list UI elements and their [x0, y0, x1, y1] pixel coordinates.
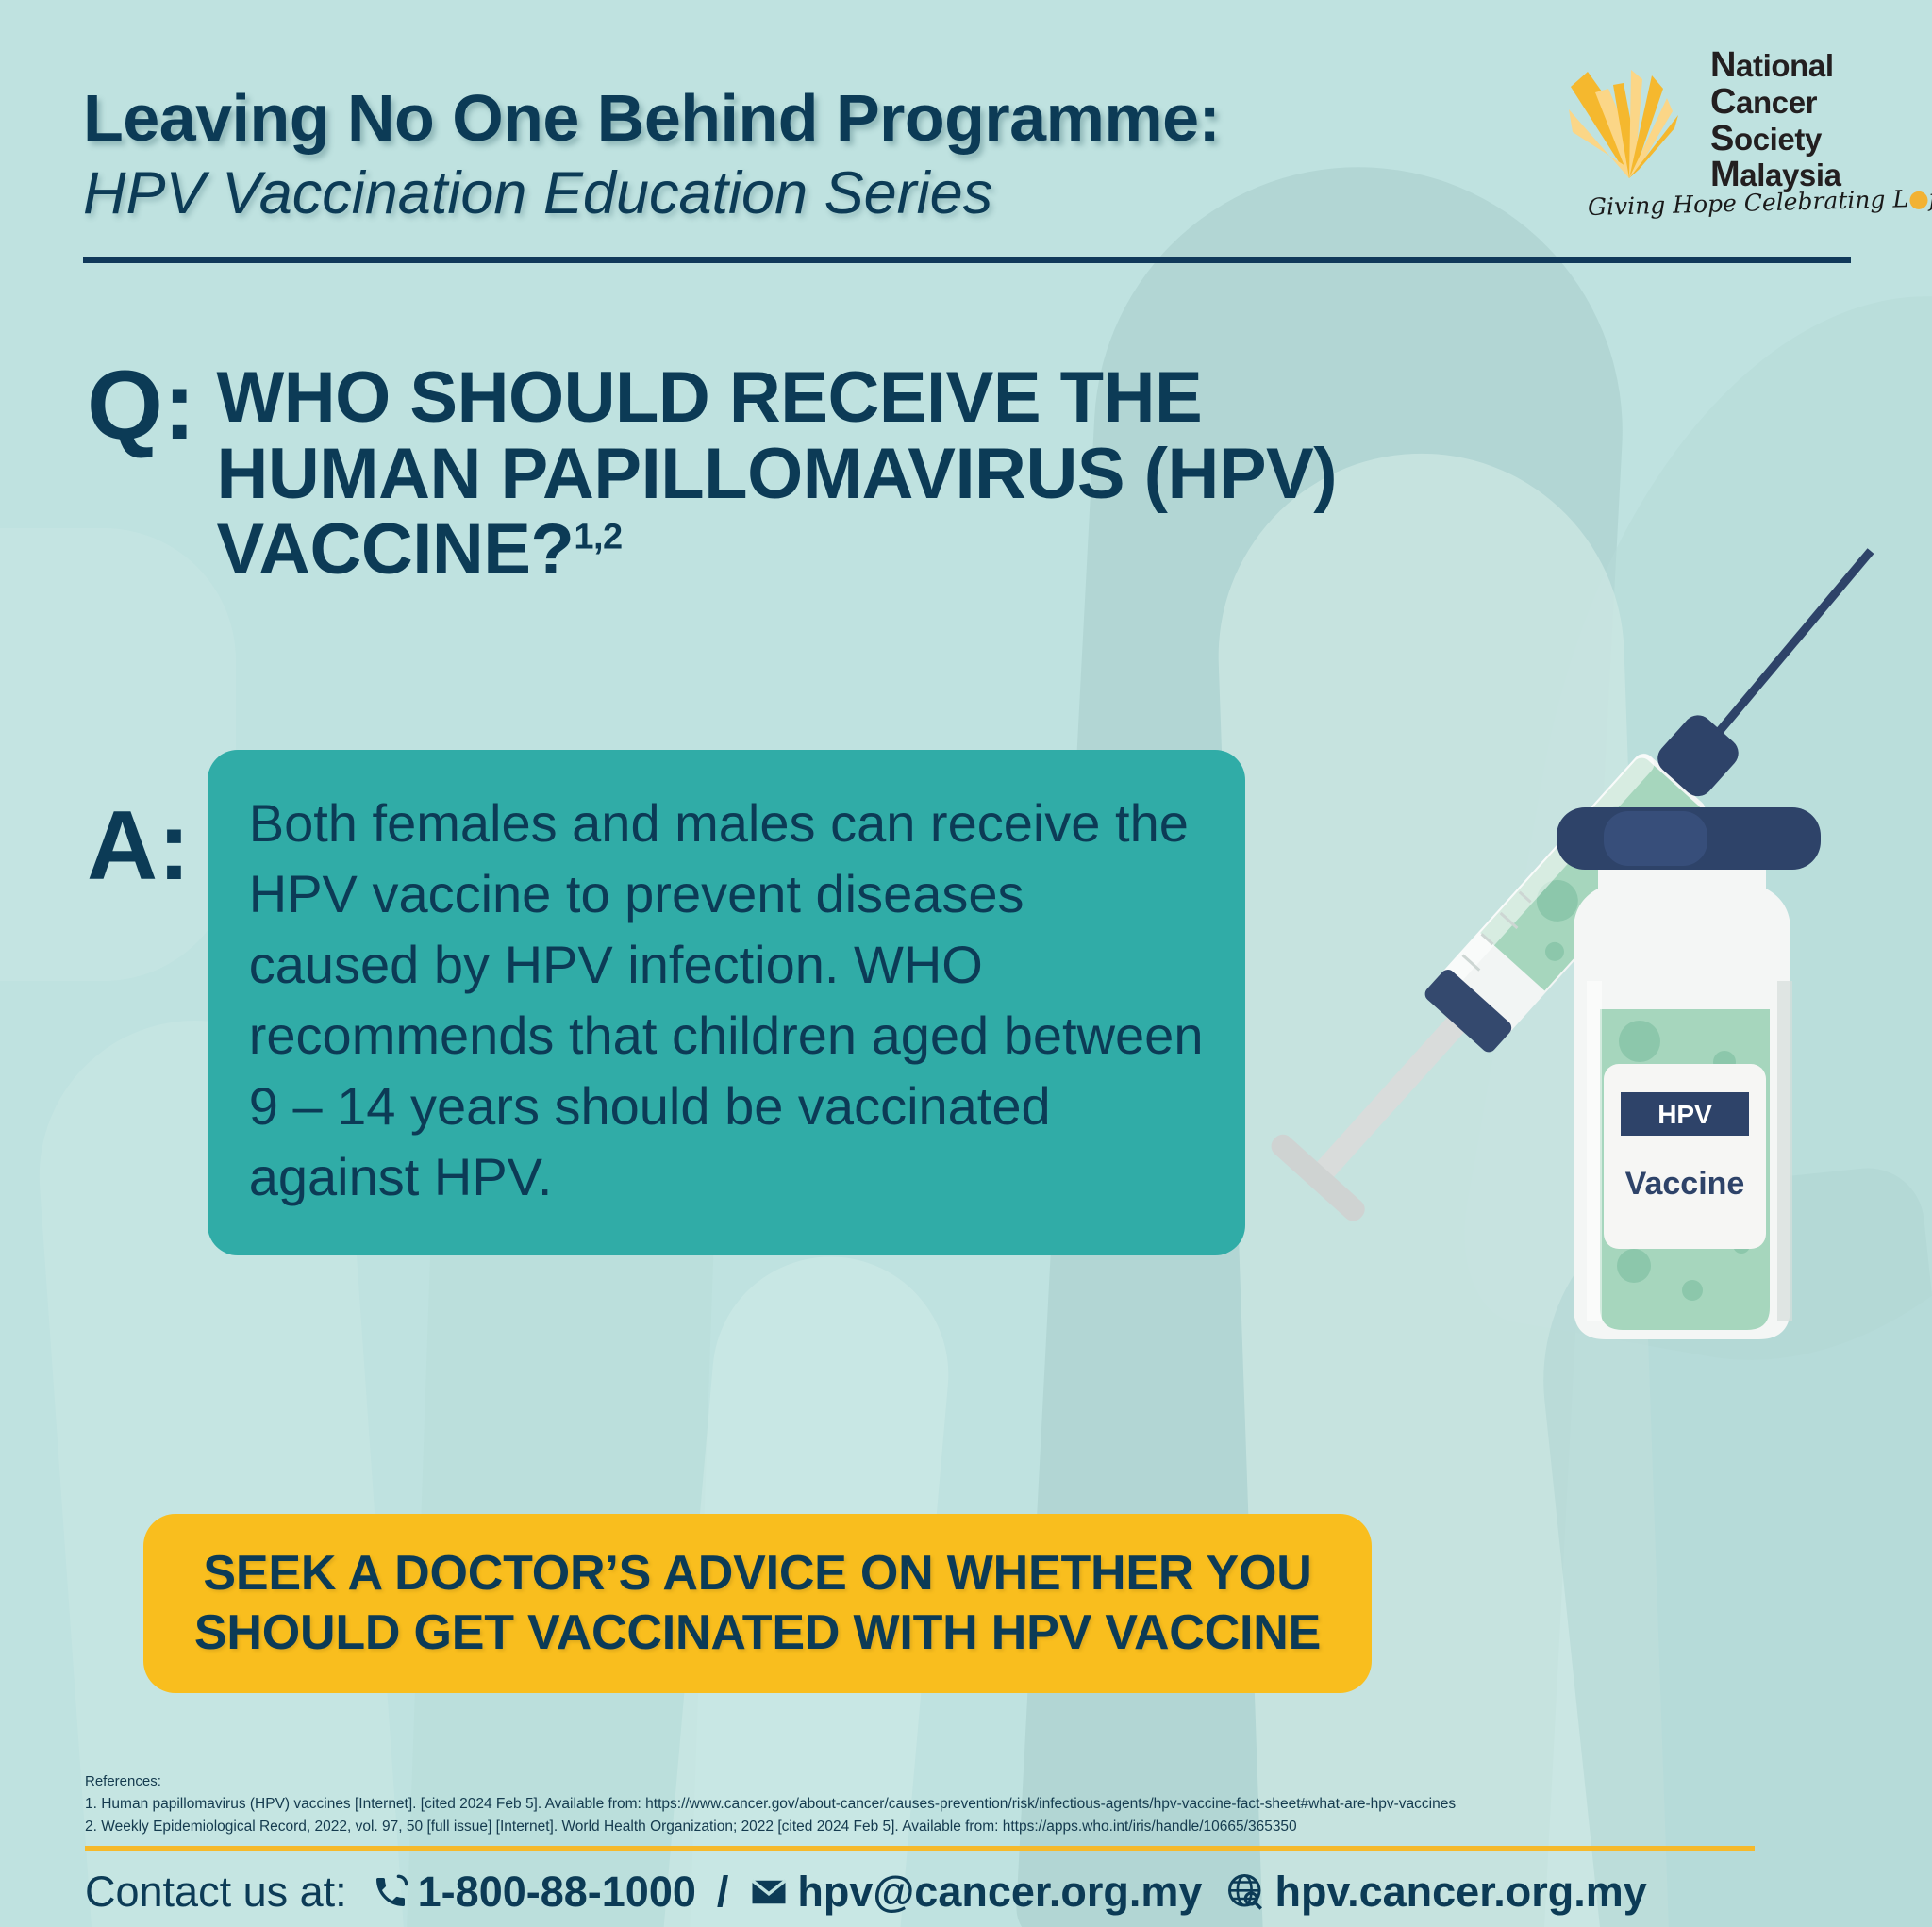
contact-website-text: hpv.cancer.org.my [1274, 1868, 1646, 1917]
logo-rest-national: ational [1736, 48, 1834, 83]
logo-line-society: Society [1710, 121, 1841, 158]
contact-separator: / [717, 1868, 729, 1917]
title-block: Leaving No One Behind Programme: HPV Vac… [83, 85, 1404, 224]
references-block: References: 1. Human papillomavirus (HPV… [85, 1771, 1783, 1838]
phone-icon [372, 1873, 409, 1911]
logo-cap-c: C [1710, 82, 1736, 122]
cta-line-1: SEEK A DOCTOR’S ADVICE ON WHETHER YOU [203, 1544, 1311, 1603]
question-text-wrapper: WHO SHOULD RECEIVE THE HUMAN PAPILLOMAVI… [217, 360, 1387, 589]
contact-phone[interactable]: 1-800-88-1000 [372, 1868, 696, 1917]
answer-box: Both females and males can receive the H… [208, 750, 1245, 1255]
contact-email[interactable]: hpv@cancer.org.my [749, 1868, 1202, 1917]
reference-item: 2. Weekly Epidemiological Record, 2022, … [85, 1816, 1783, 1838]
cta-banner[interactable]: SEEK A DOCTOR’S ADVICE ON WHETHER YOU SH… [143, 1514, 1372, 1693]
logo-tagline-before: Giving Hope Celebrating L [1588, 185, 1909, 221]
ncsm-logo: National Cancer Society Malaysia Giving … [1561, 45, 1932, 224]
logo-tagline-after: fe [1928, 184, 1932, 212]
cta-line-2: SHOULD GET VACCINATED WITH HPV VACCINE [194, 1603, 1321, 1663]
syringe-and-vial-illustration: HPV Vaccine [1255, 528, 1932, 1471]
reference-item: 1. Human papillomavirus (HPV) vaccines [… [85, 1793, 1783, 1816]
page-subtitle: HPV Vaccination Education Series [83, 164, 1404, 224]
contact-phone-text: 1-800-88-1000 [418, 1868, 696, 1917]
vial-label-hpv: HPV [1657, 1100, 1712, 1129]
ncsm-logo-text: National Cancer Society Malaysia [1710, 47, 1841, 193]
envelope-icon [749, 1872, 789, 1912]
logo-rest-cancer: ancer [1736, 85, 1817, 120]
question-text: WHO SHOULD RECEIVE THE HUMAN PAPILLOMAVI… [217, 357, 1338, 590]
footer-divider [85, 1846, 1755, 1851]
logo-cap-n: N [1710, 45, 1736, 85]
contact-email-text: hpv@cancer.org.my [797, 1868, 1202, 1917]
question-superscript: 1,2 [574, 518, 622, 557]
answer-text: Both females and males can receive the H… [249, 788, 1204, 1212]
logo-cap-s: S [1710, 119, 1734, 158]
header: Leaving No One Behind Programme: HPV Vac… [0, 0, 1932, 283]
logo-tagline-flame-icon: ● [1908, 185, 1930, 213]
answer-block: A: Both females and males can receive th… [87, 750, 1245, 1255]
logo-line-national: National [1710, 47, 1841, 84]
references-heading: References: [85, 1771, 1783, 1793]
contact-website[interactable]: hpv.cancer.org.my [1226, 1868, 1646, 1917]
logo-rest-society: ociety [1734, 122, 1822, 157]
page-title: Leaving No One Behind Programme: [83, 85, 1404, 151]
header-divider [83, 257, 1851, 263]
logo-tagline: Giving Hope Celebrating L●fe [1588, 184, 1932, 221]
ncsm-fan-icon [1561, 51, 1703, 183]
answer-marker: A: [87, 797, 191, 895]
contact-row: Contact us at: 1-800-88-1000 / hpv@cance… [85, 1863, 1647, 1921]
poster-canvas: Leaving No One Behind Programme: HPV Vac… [0, 0, 1932, 1927]
contact-label: Contact us at: [85, 1868, 347, 1917]
question-marker: Q: [87, 360, 196, 453]
logo-line-cancer: Cancer [1710, 84, 1841, 121]
vial-label-vaccine: Vaccine [1625, 1166, 1745, 1202]
globe-icon [1226, 1872, 1266, 1912]
